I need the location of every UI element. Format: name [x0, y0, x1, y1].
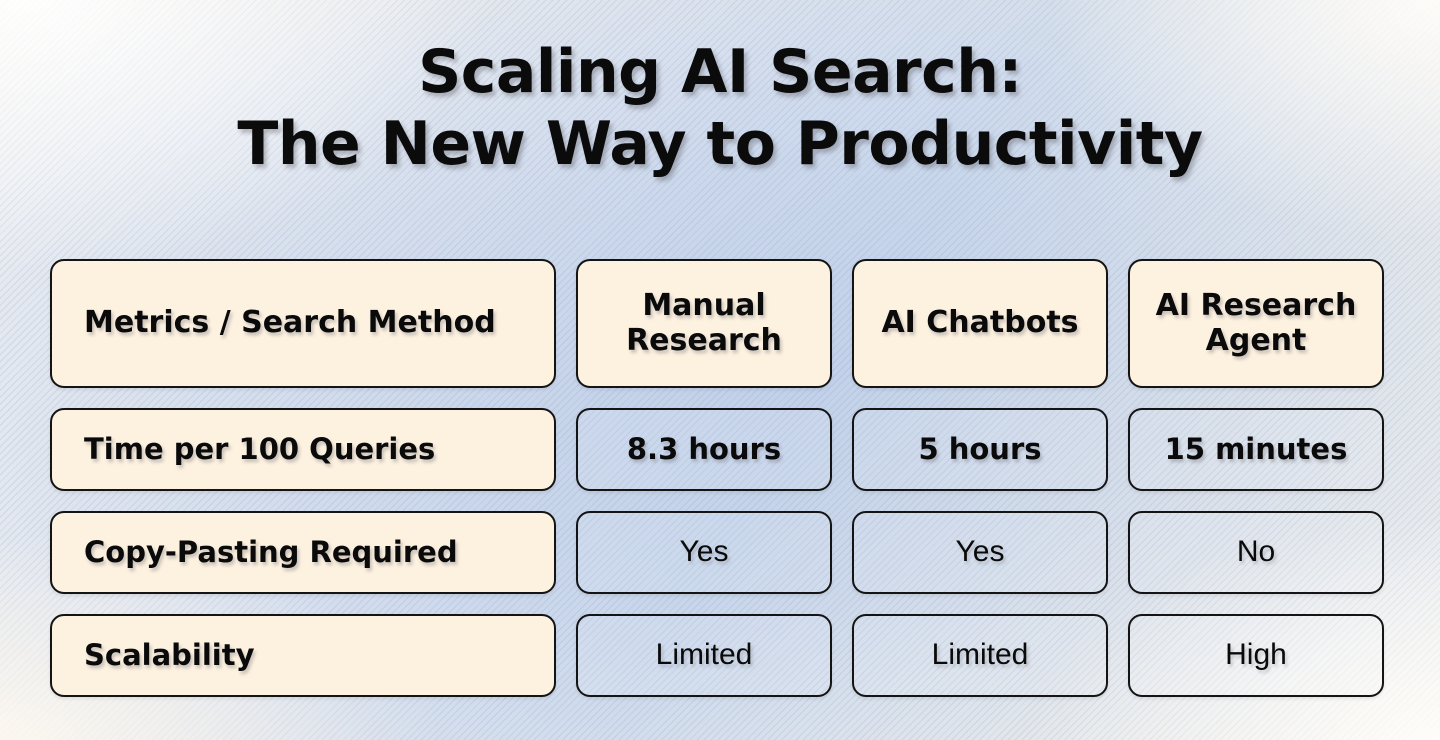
row-value-cell-ai-chatbots: Yes: [852, 511, 1108, 594]
slide-canvas: Scaling AI Search: The New Way to Produc…: [0, 0, 1440, 740]
header-cell-manual-research: Manual Research: [576, 259, 832, 388]
row-label-cell: Scalability: [50, 614, 556, 697]
row-label: Scalability: [84, 639, 255, 673]
row-value-manual-research: 8.3 hours: [627, 433, 781, 467]
header-cell-ai-chatbots: AI Chatbots: [852, 259, 1108, 388]
header-label-manual-research: Manual Research: [578, 289, 830, 359]
row-value-cell-ai-research-agent: No: [1128, 511, 1384, 594]
header-cell-ai-research-agent: AI Research Agent: [1128, 259, 1384, 388]
row-value-ai-research-agent: High: [1225, 638, 1287, 673]
row-value-ai-chatbots: 5 hours: [918, 433, 1041, 467]
row-value-manual-research: Yes: [680, 535, 729, 570]
row-value-cell-ai-chatbots: Limited: [852, 614, 1108, 697]
row-value-ai-chatbots: Limited: [932, 638, 1029, 673]
title-line-2: The New Way to Productivity: [0, 108, 1440, 180]
row-label: Copy-Pasting Required: [84, 536, 458, 570]
row-value-cell-manual-research: 8.3 hours: [576, 408, 832, 491]
header-label-metric: Metrics / Search Method: [84, 306, 496, 341]
header-label-ai-chatbots: AI Chatbots: [881, 306, 1078, 341]
row-label-cell: Time per 100 Queries: [50, 408, 556, 491]
table-row: Copy-Pasting Required Yes Yes No: [50, 511, 1386, 594]
comparison-table: Metrics / Search Method Manual Research …: [50, 259, 1386, 697]
row-value-cell-manual-research: Limited: [576, 614, 832, 697]
row-value-ai-research-agent: 15 minutes: [1165, 433, 1348, 467]
row-label: Time per 100 Queries: [84, 433, 435, 467]
header-label-ai-research-agent: AI Research Agent: [1130, 289, 1382, 359]
page-title: Scaling AI Search: The New Way to Produc…: [0, 36, 1440, 180]
row-value-cell-ai-chatbots: 5 hours: [852, 408, 1108, 491]
title-line-1: Scaling AI Search:: [0, 36, 1440, 108]
table-header-row: Metrics / Search Method Manual Research …: [50, 259, 1386, 388]
row-value-ai-chatbots: Yes: [956, 535, 1005, 570]
header-cell-metric: Metrics / Search Method: [50, 259, 556, 388]
row-value-cell-manual-research: Yes: [576, 511, 832, 594]
row-value-cell-ai-research-agent: 15 minutes: [1128, 408, 1384, 491]
row-value-manual-research: Limited: [656, 638, 753, 673]
table-row: Time per 100 Queries 8.3 hours 5 hours 1…: [50, 408, 1386, 491]
table-row: Scalability Limited Limited High: [50, 614, 1386, 697]
row-value-cell-ai-research-agent: High: [1128, 614, 1384, 697]
row-label-cell: Copy-Pasting Required: [50, 511, 556, 594]
row-value-ai-research-agent: No: [1237, 535, 1275, 570]
